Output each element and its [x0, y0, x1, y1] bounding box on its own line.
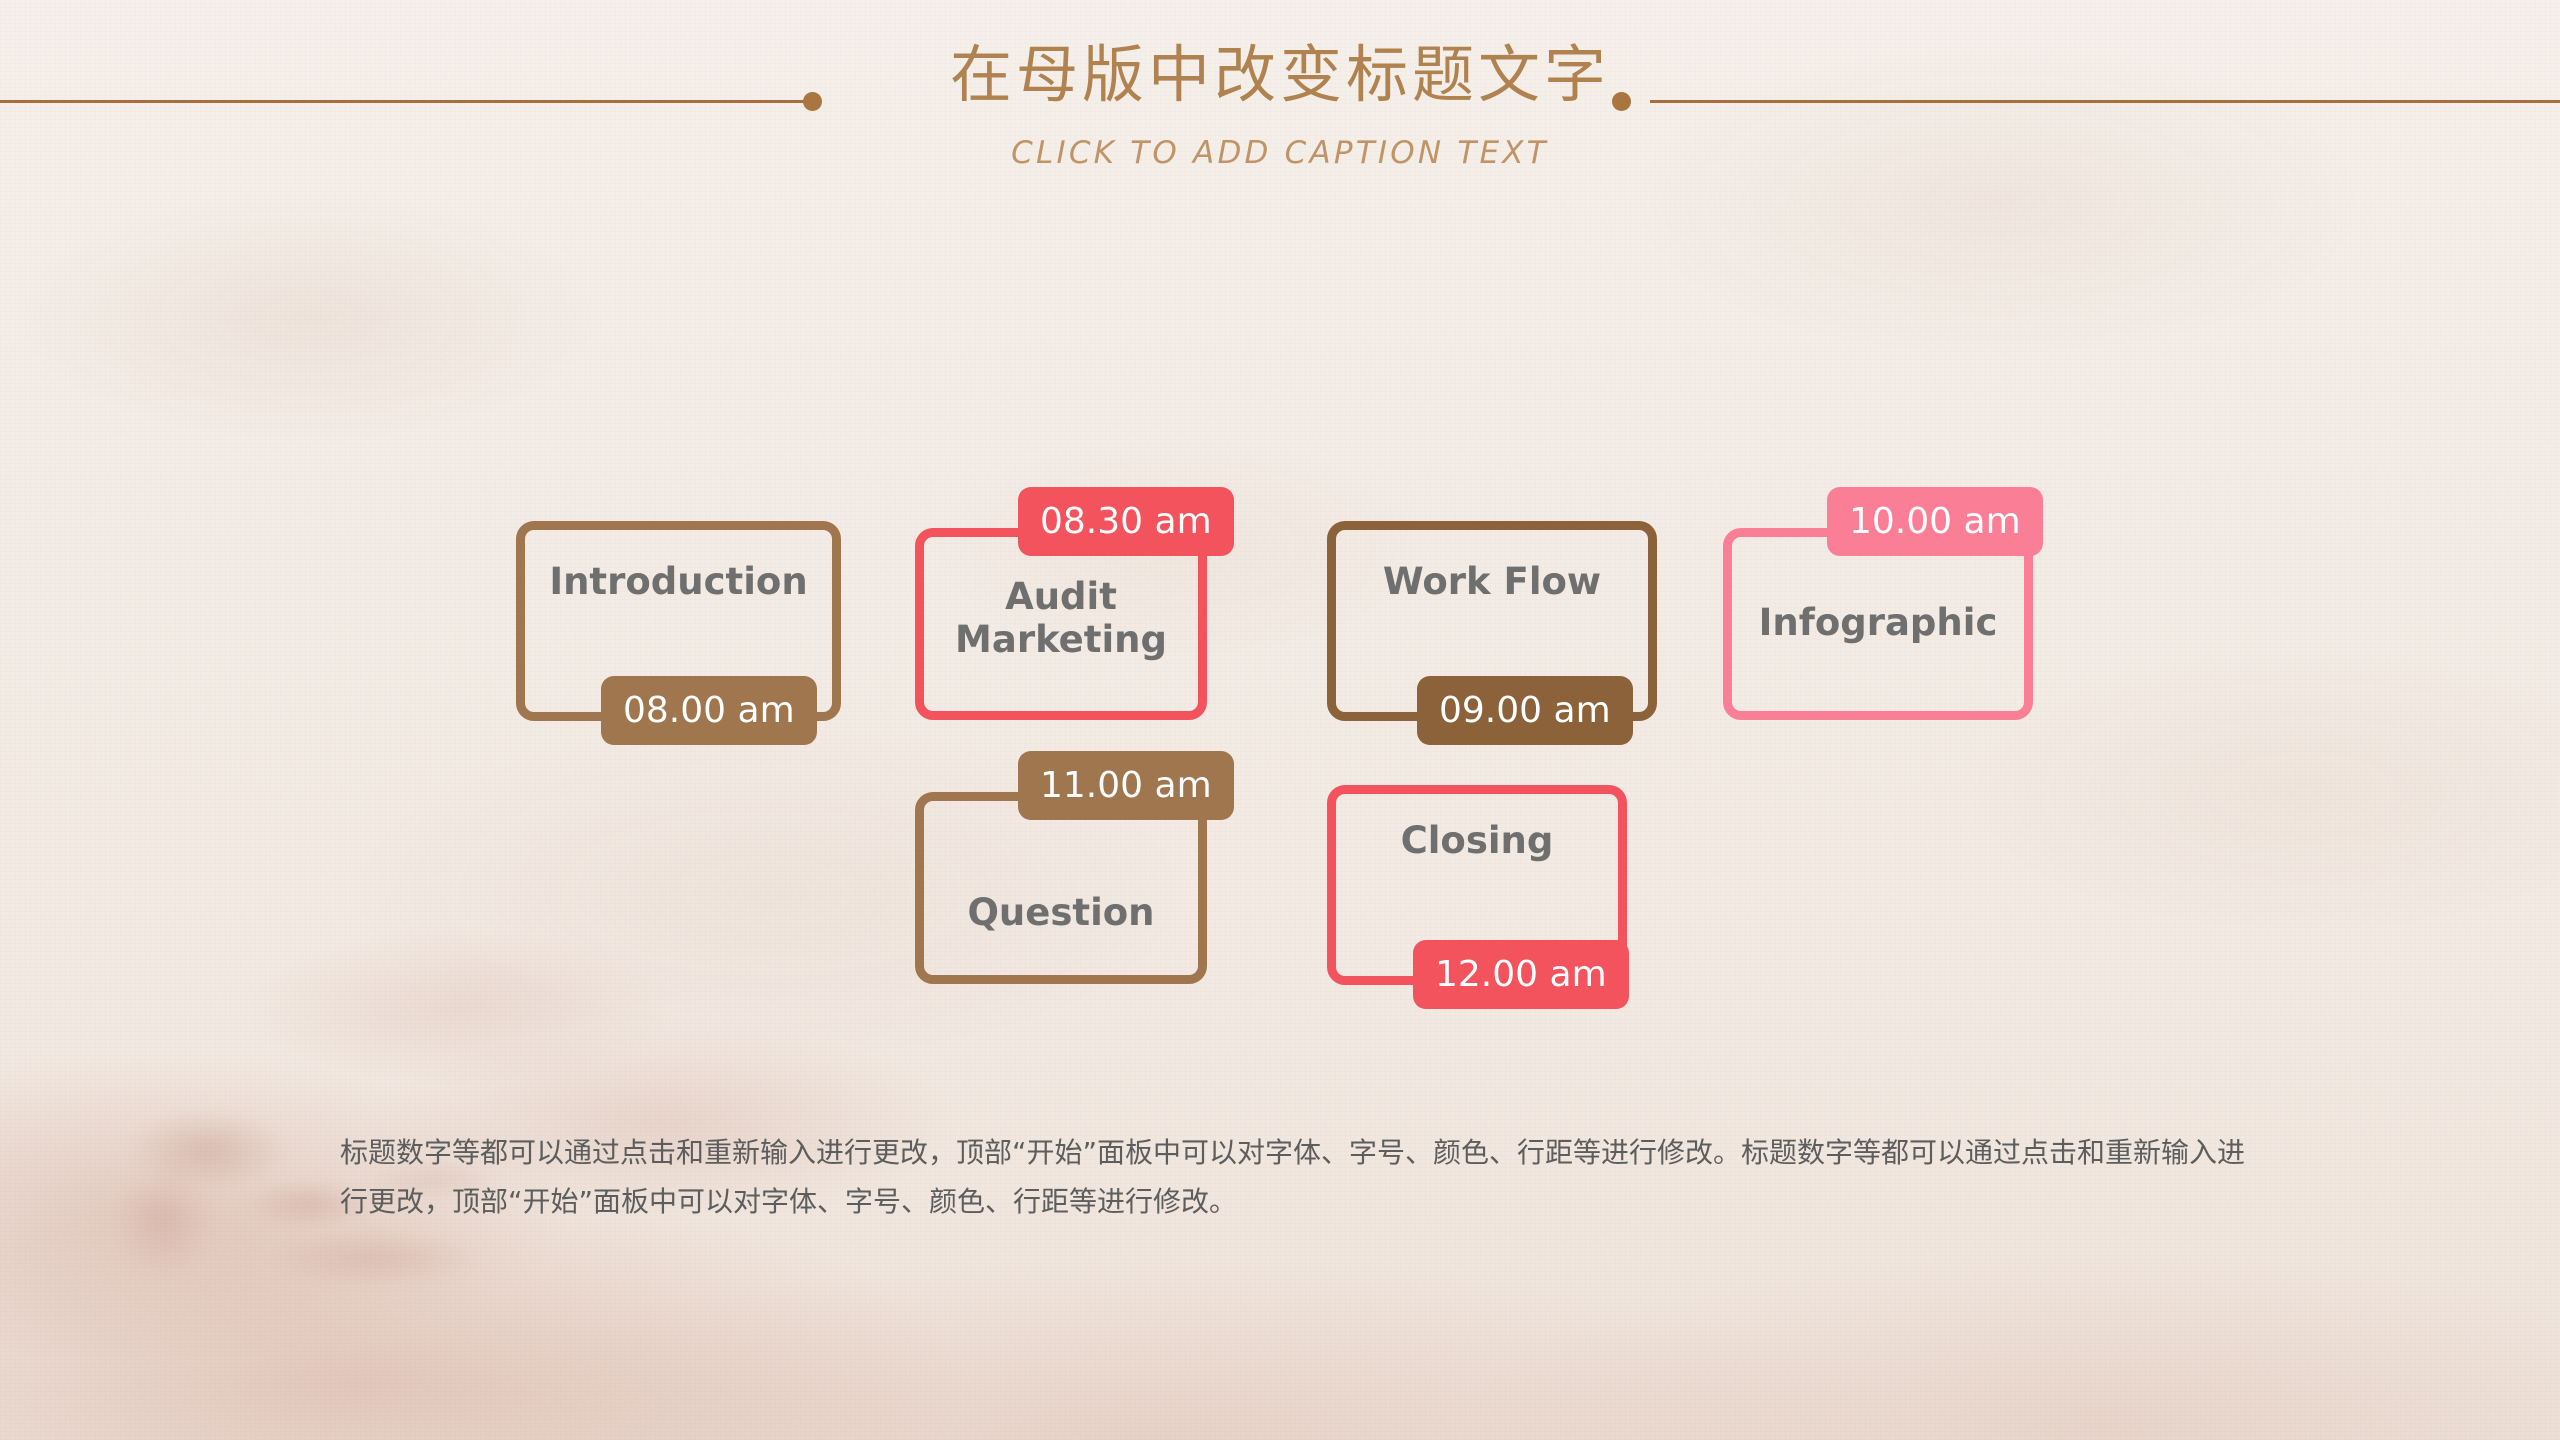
card-time-badge[interactable]: 11.00 am: [1018, 751, 1234, 820]
footer-paragraph: 标题数字等都可以通过点击和重新输入进行更改，顶部“开始”面板中可以对字体、字号、…: [340, 1128, 2270, 1226]
card-label: Closing: [1327, 820, 1627, 863]
card-label: Question: [915, 892, 1207, 935]
card-time-badge[interactable]: 10.00 am: [1827, 487, 2043, 556]
timeline-card-audit-marketing[interactable]: Audit Marketing 08.30 am: [915, 528, 1207, 720]
timeline-card-introduction[interactable]: Introduction 08.00 am: [516, 521, 841, 721]
slide-canvas: 在母版中改变标题文字 CLICK TO ADD CAPTION TEXT Int…: [0, 0, 2560, 1440]
card-label: Work Flow: [1327, 561, 1657, 604]
timeline-card-infographic[interactable]: Infographic 10.00 am: [1723, 528, 2033, 720]
card-label: Introduction: [516, 561, 841, 604]
card-label: Infographic: [1723, 602, 2033, 645]
card-time-badge[interactable]: 12.00 am: [1413, 940, 1629, 1009]
card-time-badge[interactable]: 08.00 am: [601, 676, 817, 745]
card-frame: [915, 792, 1207, 984]
card-time-badge[interactable]: 09.00 am: [1417, 676, 1633, 745]
timeline-card-closing[interactable]: Closing 12.00 am: [1327, 785, 1627, 985]
card-label: Audit Marketing: [915, 576, 1207, 662]
timeline-card-work-flow[interactable]: Work Flow 09.00 am: [1327, 521, 1657, 721]
timeline-card-question[interactable]: Question 11.00 am: [915, 792, 1207, 984]
card-time-badge[interactable]: 08.30 am: [1018, 487, 1234, 556]
